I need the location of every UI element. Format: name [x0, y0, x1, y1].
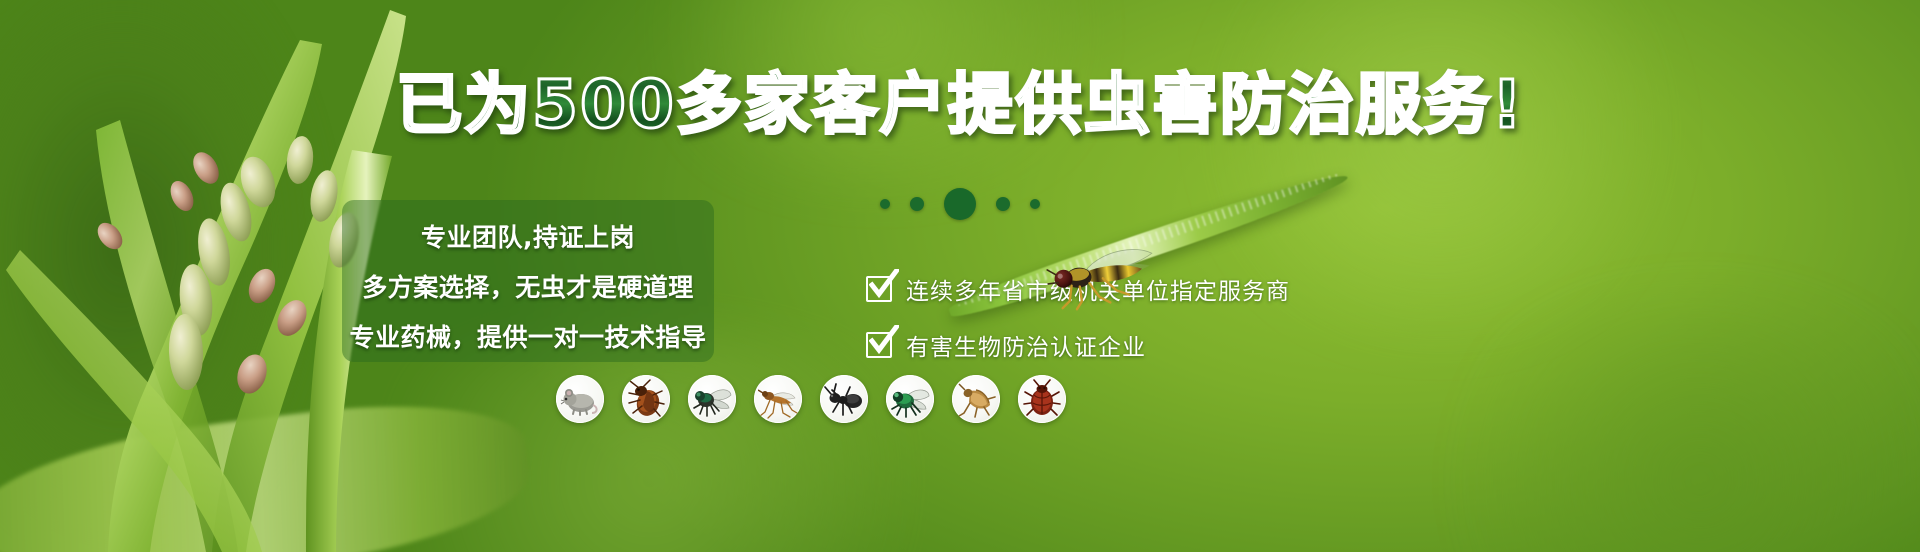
ant-icon: [824, 379, 864, 419]
dot-small-left: [880, 199, 890, 209]
pest-control-hero-banner: 已为500多家客户提供虫害防治服务! 已为500多家客户提供虫害防治服务! 专业…: [0, 0, 1920, 552]
checkbox-checked-icon: [866, 276, 892, 302]
selling-point-line-3: 专业药械，提供一对一技术指导: [320, 318, 737, 354]
pest-icon-mosquito[interactable]: [754, 375, 802, 423]
housefly-icon: [692, 379, 732, 419]
mouse-icon: [560, 379, 600, 419]
pest-icon-housefly[interactable]: [688, 375, 736, 423]
pest-icon-cockroach[interactable]: [622, 375, 670, 423]
banner-headline: 已为500多家客户提供虫害防治服务! 已为500多家客户提供虫害防治服务!: [0, 72, 1920, 138]
mosquito-icon: [758, 379, 798, 419]
check-mark-icon: [869, 269, 899, 299]
bedbug-icon: [1022, 379, 1062, 419]
selling-point-line-1: 专业团队,持证上岗: [342, 218, 714, 254]
selling-point-line-2: 多方案选择，无虫才是硬道理: [331, 268, 725, 304]
checklist-item-label: 有害生物防治认证企业: [906, 328, 1146, 362]
dot-large-center: [944, 188, 976, 220]
decorative-dot-row: [0, 188, 1920, 220]
checkbox-checked-icon: [866, 332, 892, 358]
selling-points-panel: 专业团队,持证上岗 多方案选择，无虫才是硬道理 专业药械，提供一对一技术指导: [342, 200, 714, 362]
greenbottle-fly-icon: [890, 379, 930, 419]
pest-icon-ant[interactable]: [820, 375, 868, 423]
pest-type-icon-row: [556, 375, 1066, 423]
pest-icon-bedbug[interactable]: [1018, 375, 1066, 423]
banner-headline-text: 已为500多家客户提供虫害防治服务!: [396, 72, 1524, 138]
pest-icon-mouse[interactable]: [556, 375, 604, 423]
dot-medium-left: [910, 197, 924, 211]
dot-small-right: [1030, 199, 1040, 209]
flea-icon: [956, 379, 996, 419]
dot-medium-right: [996, 197, 1010, 211]
checklist-item: 有害生物防治认证企业: [866, 328, 1290, 362]
check-mark-icon: [869, 325, 899, 355]
pest-icon-greenbottle-fly[interactable]: [886, 375, 934, 423]
pest-icon-flea[interactable]: [952, 375, 1000, 423]
bg-dark-blob-bottom-right: [1420, 300, 1920, 552]
cockroach-icon: [626, 379, 666, 419]
